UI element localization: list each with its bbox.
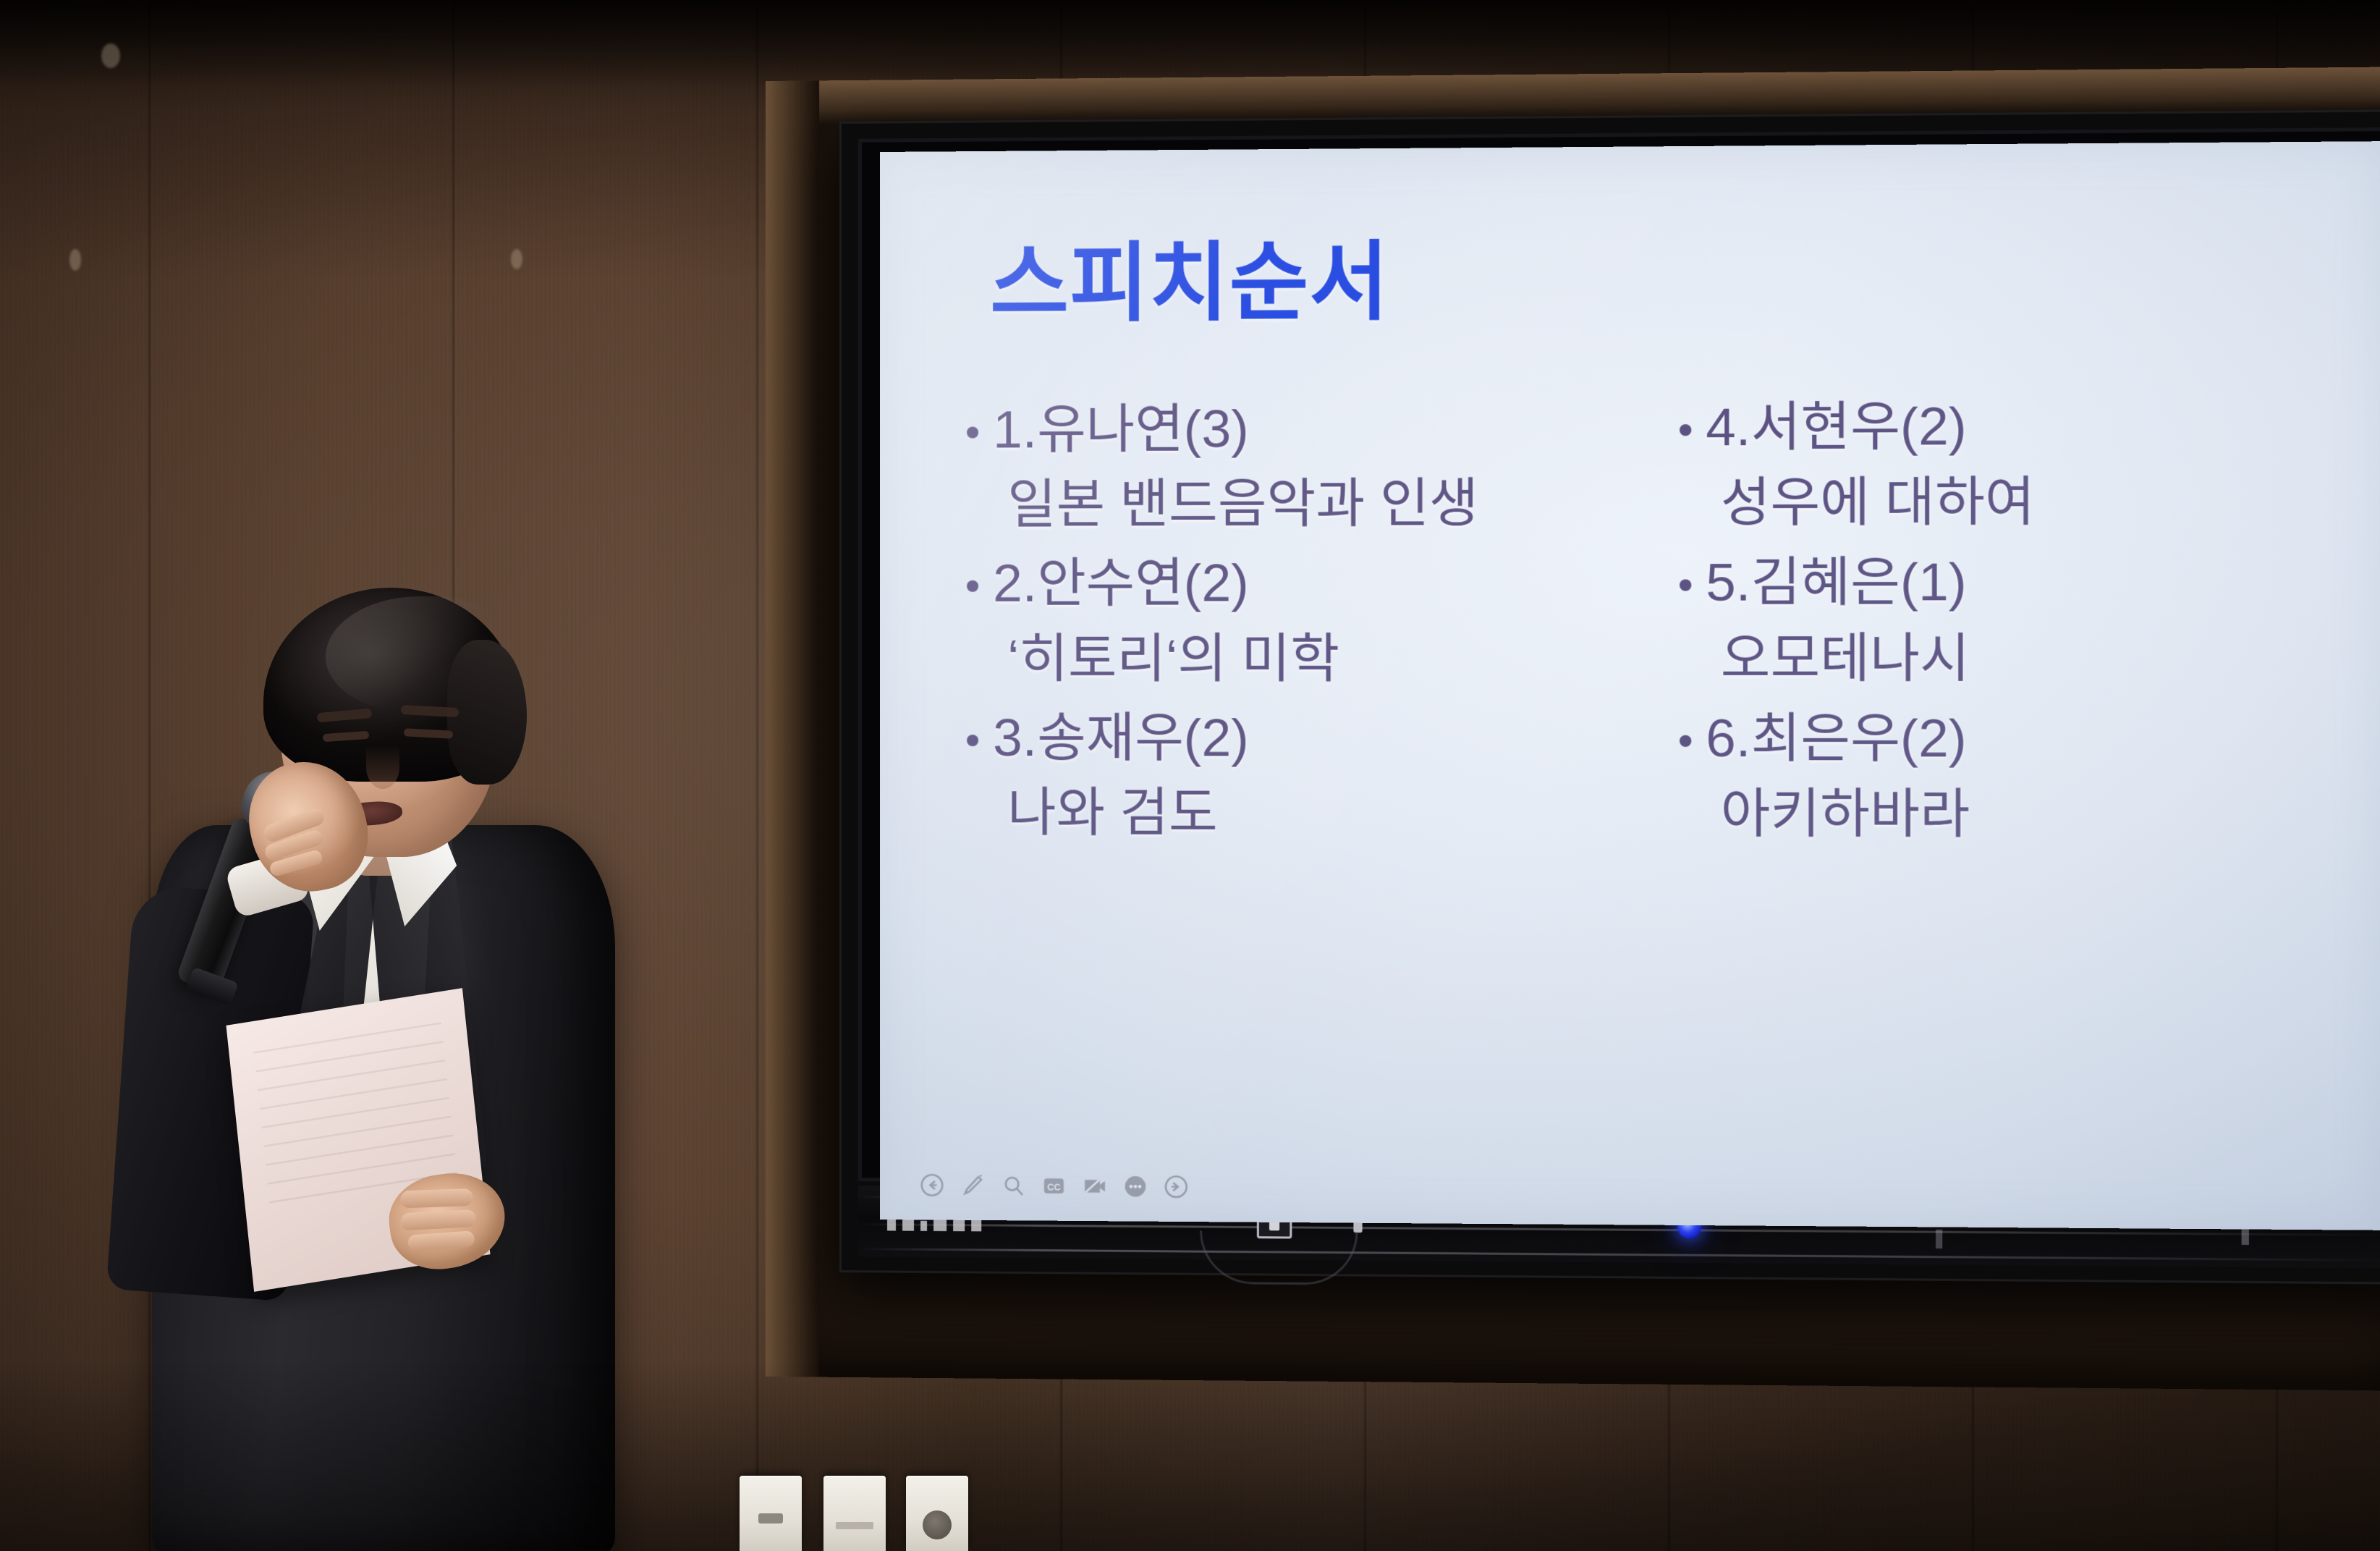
presentation-room-scene: 스피치순서 1.유나연(3) 일본 밴드음악과 인생 2.안수연(2) xyxy=(0,0,2380,1551)
wall-outlet-center[interactable] xyxy=(823,1476,886,1551)
wall-outlet-left-slot xyxy=(758,1513,783,1523)
port-audio[interactable] xyxy=(920,1221,927,1231)
list-item-subtitle: 오모테나시 xyxy=(1721,624,2337,693)
pen-icon[interactable] xyxy=(958,1171,987,1200)
presenter-nose xyxy=(366,745,399,789)
bullet-dot-icon xyxy=(1680,424,1691,436)
wall-outlet-center-bar xyxy=(836,1522,873,1529)
list-item-heading: 2.안수연(2) xyxy=(993,554,1249,614)
list-item: 1.유나연(3) xyxy=(967,395,1612,462)
list-item-body: 3.송재우(2) xyxy=(993,706,1612,771)
list-item-body: 4.서현우(2) xyxy=(1706,392,2336,460)
slide-title: 스피치순서 xyxy=(990,240,1389,327)
bezel-ridge-bottom xyxy=(858,1248,2380,1261)
bullet-dot-icon xyxy=(967,735,978,746)
list-item-subtitle: 성우에 대하여 xyxy=(1721,467,2337,537)
list-item: 4.서현우(2) xyxy=(1680,392,2337,460)
list-item: 5.김혜은(1) xyxy=(1680,549,2337,616)
list-item-heading: 3.송재우(2) xyxy=(993,709,1249,768)
slide-left-column: 1.유나연(3) 일본 밴드음악과 인생 2.안수연(2) ‘히토리‘의 미학 xyxy=(967,395,1612,861)
wall-outlet-right[interactable] xyxy=(906,1476,968,1551)
list-item: 2.안수연(2) xyxy=(967,551,1612,617)
wall-blemish-2 xyxy=(69,249,81,271)
bullet-dot-icon xyxy=(1680,580,1691,591)
wall-outlet-right-socket xyxy=(923,1510,952,1539)
bezel-mark-center-right xyxy=(1936,1230,1942,1248)
list-item: 6.최은우(2) xyxy=(1680,706,2337,772)
presenter-hair-side xyxy=(447,640,527,785)
list-item-subtitle: 아키하바라 xyxy=(1721,779,2337,849)
slide-columns: 1.유나연(3) 일본 밴드음악과 인생 2.안수연(2) ‘히토리‘의 미학 xyxy=(967,392,2336,863)
list-item-body: 5.김혜은(1) xyxy=(1706,549,2336,616)
svg-text:CC: CC xyxy=(1047,1181,1061,1192)
list-item-heading: 6.최은우(2) xyxy=(1706,709,1966,768)
slide-right-column: 4.서현우(2) 성우에 대하여 5.김혜은(1) 오모테나시 xyxy=(1680,392,2337,863)
powerpoint-presenter-toolbar[interactable]: CC xyxy=(918,1170,1191,1201)
video-slash-icon[interactable] xyxy=(1080,1172,1109,1201)
list-item: 3.송재우(2) xyxy=(967,706,1612,771)
list-item-body: 1.유나연(3) xyxy=(993,395,1612,462)
bullet-dot-icon xyxy=(967,580,978,592)
presenter-finger-6 xyxy=(407,1230,475,1251)
bullet-dot-icon xyxy=(967,427,978,439)
list-item-subtitle: 나와 검도 xyxy=(1007,779,1612,848)
list-item-subtitle: ‘히토리‘의 미학 xyxy=(1007,625,1612,693)
powerpoint-slide: 스피치순서 1.유나연(3) 일본 밴드음악과 인생 2.안수연(2) xyxy=(880,141,2380,1230)
magnifier-icon[interactable] xyxy=(999,1171,1028,1200)
list-item-heading: 1.유나연(3) xyxy=(993,400,1249,459)
list-item-subtitle: 일본 밴드음악과 인생 xyxy=(1007,469,1612,538)
more-options-button[interactable] xyxy=(1121,1172,1150,1201)
display-screen[interactable]: 스피치순서 1.유나연(3) 일본 밴드음악과 인생 2.안수연(2) xyxy=(880,141,2380,1230)
wall-outlet-left[interactable] xyxy=(740,1476,802,1551)
list-item-body: 6.최은우(2) xyxy=(1706,706,2336,772)
list-item-heading: 5.김혜은(1) xyxy=(1706,553,1966,613)
next-slide-button[interactable] xyxy=(1161,1172,1190,1201)
recess-left-bevel xyxy=(766,80,819,1377)
wall-blemish-3 xyxy=(511,249,522,269)
presenter-finger-5 xyxy=(400,1209,476,1230)
presenter-finger-4 xyxy=(400,1188,473,1208)
list-item-body: 2.안수연(2) xyxy=(993,551,1612,617)
previous-slide-button[interactable] xyxy=(918,1170,947,1199)
bullet-dot-icon xyxy=(1680,735,1691,747)
wall-blemish-1 xyxy=(101,43,120,68)
lower-wall-shadow xyxy=(0,1363,2380,1551)
closed-captions-icon[interactable]: CC xyxy=(1039,1171,1068,1200)
list-item-heading: 4.서현우(2) xyxy=(1706,397,1966,457)
